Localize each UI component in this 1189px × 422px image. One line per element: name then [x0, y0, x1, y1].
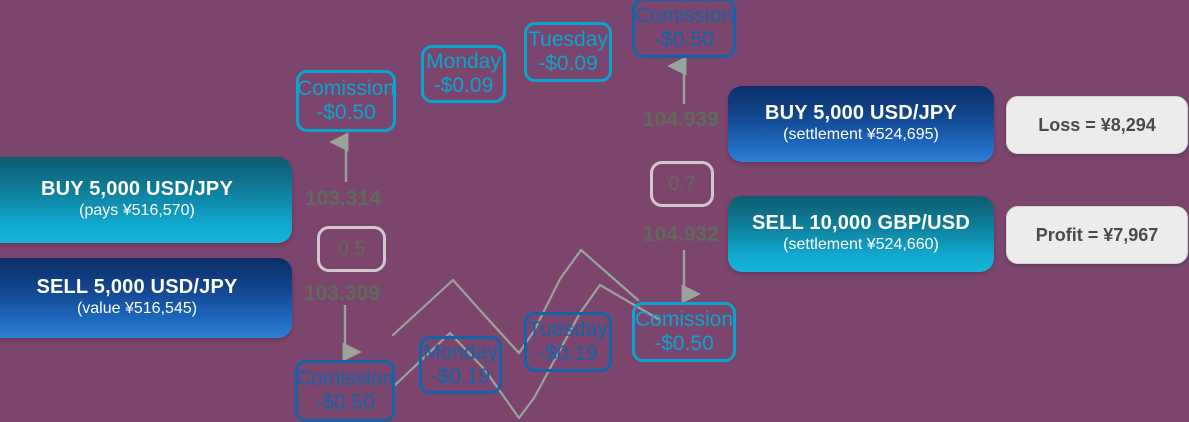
spread-box-left: 0.5 [317, 226, 386, 272]
trade-card-buy-left-amount: (pays ¥516,570) [79, 201, 195, 222]
note-commission-bottom-left-value: -$0.50 [315, 391, 375, 415]
note-commission-top-left-value: -$0.50 [316, 101, 376, 125]
note-tuesday-top-label: Tuesday [528, 28, 608, 52]
note-tuesday-bottom: Tuesday -$0.19 [524, 312, 612, 372]
note-tuesday-bottom-value: -$0.19 [538, 342, 598, 366]
note-commission-bottom-left: Comission -$0.50 [295, 360, 395, 422]
trade-card-buy-right-amount: (settlement ¥524,695) [783, 125, 939, 146]
note-commission-bottom-right: Comission -$0.50 [632, 302, 736, 362]
trade-card-sell-left-title: SELL 5,000 USD/JPY [36, 276, 237, 300]
trade-card-buy-left-title: BUY 5,000 USD/JPY [41, 178, 233, 202]
price-label-ask-open: 103.314 [305, 187, 381, 211]
note-commission-top-right: Comission -$0.50 [632, 0, 736, 58]
note-commission-bottom-left-label: Comission [296, 367, 394, 391]
trade-card-sell-right[interactable]: SELL 10,000 GBP/USD (settlement ¥524,660… [728, 196, 994, 272]
note-tuesday-top-value: -$0.09 [538, 52, 598, 76]
note-monday-top-value: -$0.09 [434, 74, 494, 98]
trade-card-sell-right-title: SELL 10,000 GBP/USD [752, 212, 970, 236]
note-tuesday-bottom-label: Tuesday [528, 318, 608, 342]
trade-card-buy-left[interactable]: BUY 5,000 USD/JPY (pays ¥516,570) [0, 157, 292, 243]
trade-card-sell-right-amount: (settlement ¥524,660) [783, 235, 939, 256]
note-monday-bottom: Monday -$0.19 [419, 336, 502, 394]
note-commission-bottom-right-label: Comission [635, 308, 733, 332]
result-badge-profit: Profit = ¥7,967 [1006, 206, 1188, 264]
note-monday-top: Monday -$0.09 [421, 45, 506, 103]
trade-card-sell-left[interactable]: SELL 5,000 USD/JPY (value ¥516,545) [0, 258, 292, 338]
spread-box-right: 0.7 [650, 161, 714, 207]
note-tuesday-top: Tuesday -$0.09 [524, 22, 612, 82]
note-commission-bottom-right-value: -$0.50 [654, 332, 714, 356]
note-commission-top-right-label: Comission [635, 4, 733, 28]
result-badge-loss: Loss = ¥8,294 [1006, 96, 1188, 154]
trade-card-sell-left-amount: (value ¥516,545) [77, 299, 197, 320]
note-monday-bottom-label: Monday [423, 341, 498, 365]
note-monday-bottom-value: -$0.19 [431, 365, 491, 389]
price-label-ask-close: 104.939 [643, 108, 719, 132]
price-label-bid-open: 103.309 [304, 282, 380, 306]
note-commission-top-left-label: Comission [297, 77, 395, 101]
note-monday-top-label: Monday [426, 50, 501, 74]
trade-card-buy-right[interactable]: BUY 5,000 USD/JPY (settlement ¥524,695) [728, 86, 994, 162]
diagram-canvas: BUY 5,000 USD/JPY (pays ¥516,570) SELL 5… [0, 0, 1189, 422]
note-commission-top-right-value: -$0.50 [654, 28, 714, 52]
trade-card-buy-right-title: BUY 5,000 USD/JPY [765, 102, 957, 126]
note-commission-top-left: Comission -$0.50 [296, 70, 396, 132]
price-label-bid-close: 104.932 [643, 223, 719, 247]
